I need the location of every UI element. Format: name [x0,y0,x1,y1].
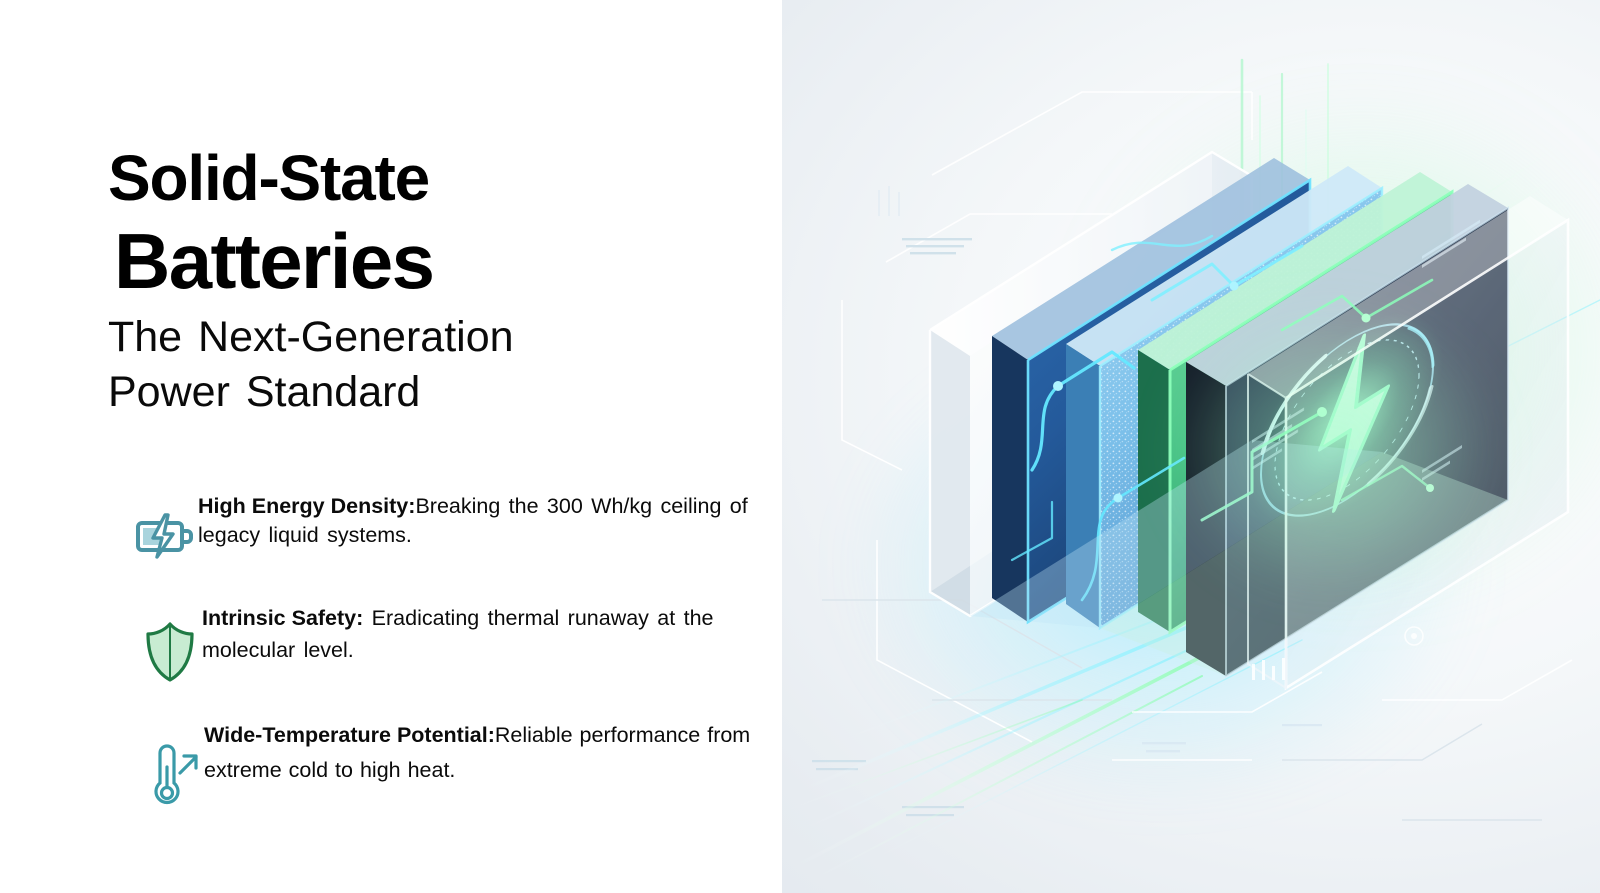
feature-item-intrinsic-safety: Intrinsic Safety: Eradicating thermal ru… [132,598,752,684]
feature-text-energy-density: High Energy Density:Breaking the 300 Wh/… [198,488,752,550]
feature-list: High Energy Density:Breaking the 300 Wh/… [132,488,752,806]
hero-image-panel [782,0,1600,893]
shield-icon [138,620,202,684]
slide-root: Solid-State Batteries The Next-Generatio… [0,0,1600,893]
battery-bolt-icon [134,504,198,568]
feature-item-energy-density: High Energy Density:Breaking the 300 Wh/… [132,488,752,568]
feature-text-intrinsic-safety: Intrinsic Safety: Eradicating thermal ru… [202,598,752,666]
feature-lead: High Energy Density: [198,494,415,518]
feature-text-wide-temperature: Wide-Temperature Potential:Reliable perf… [204,714,752,788]
feature-lead: Intrinsic Safety: [202,606,363,630]
thermometer-arrow-icon [140,742,204,806]
page-subtitle: The Next-Generation Power Standard [108,310,578,420]
headline-block: Solid-State Batteries The Next-Generatio… [108,140,768,420]
hud-wireframe-foreground [782,0,1600,893]
page-title-line-2: Batteries [114,218,768,304]
feature-item-wide-temperature: Wide-Temperature Potential:Reliable perf… [132,714,752,806]
page-title-line-1: Solid-State [108,140,768,216]
feature-lead: Wide-Temperature Potential: [204,723,495,747]
text-panel: Solid-State Batteries The Next-Generatio… [0,0,782,893]
